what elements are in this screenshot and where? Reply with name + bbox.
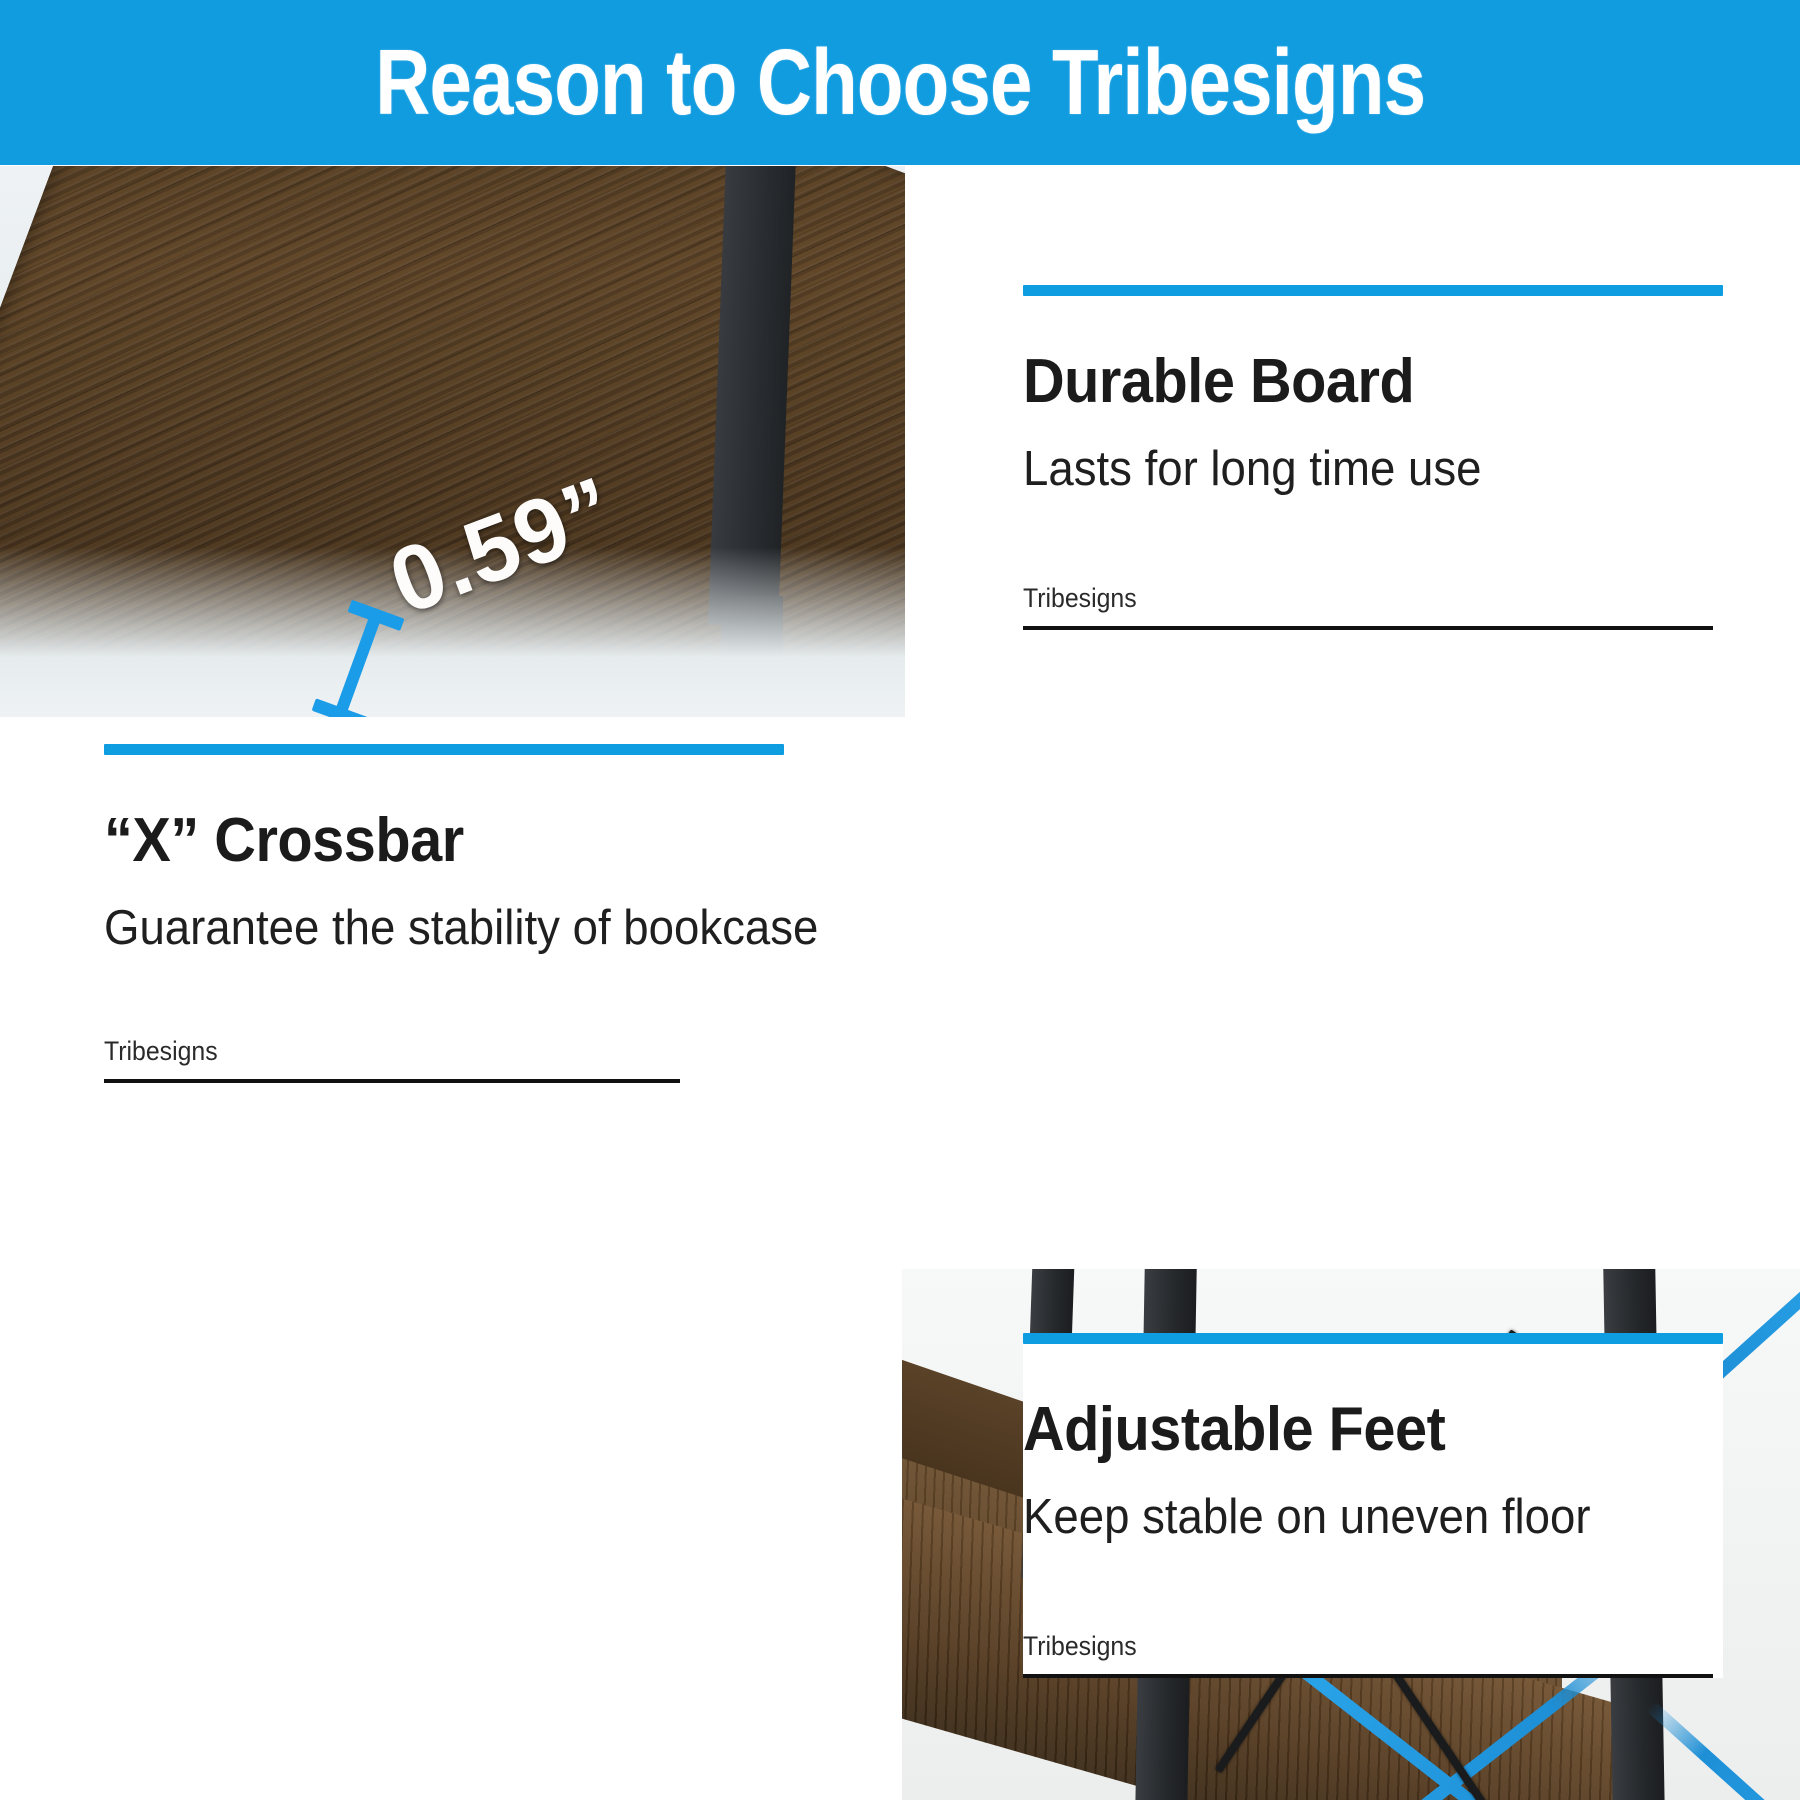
feature-subtitle: Keep stable on uneven floor [1023,1489,1674,1545]
header-banner: Reason to Choose Tribesigns [0,0,1800,165]
page-title: Reason to Choose Tribesigns [375,29,1425,136]
infographic-page: Reason to Choose Tribesigns 0.59” Durabl… [0,0,1800,1800]
feature-panel-x-crossbar: “X” Crossbar Guarantee the stability of … [0,718,905,1098]
feature-title: Adjustable Feet [1023,1394,1674,1465]
feature-subtitle: Lasts for long time use [1023,441,1674,497]
accent-bar [1023,1333,1723,1344]
divider-rule [1023,1674,1713,1678]
feature-panel-adjustable-feet: Adjustable Feet Keep stable on uneven fl… [902,1258,1800,1800]
feature-subtitle: Guarantee the stability of bookcase [104,900,736,956]
accent-bar [1023,285,1723,296]
divider-rule [1023,626,1713,630]
feature-title: “X” Crossbar [104,805,736,876]
board-thickness-photo: 0.59” [0,166,905,717]
brand-label: Tribesigns [1023,583,1667,614]
accent-bar [104,744,784,755]
feature-panel-durable-board: Durable Board Lasts for long time use Tr… [902,166,1800,717]
brand-label: Tribesigns [104,1036,730,1067]
divider-rule [104,1079,680,1083]
feature-title: Durable Board [1023,346,1674,417]
brand-label: Tribesigns [1023,1631,1667,1662]
